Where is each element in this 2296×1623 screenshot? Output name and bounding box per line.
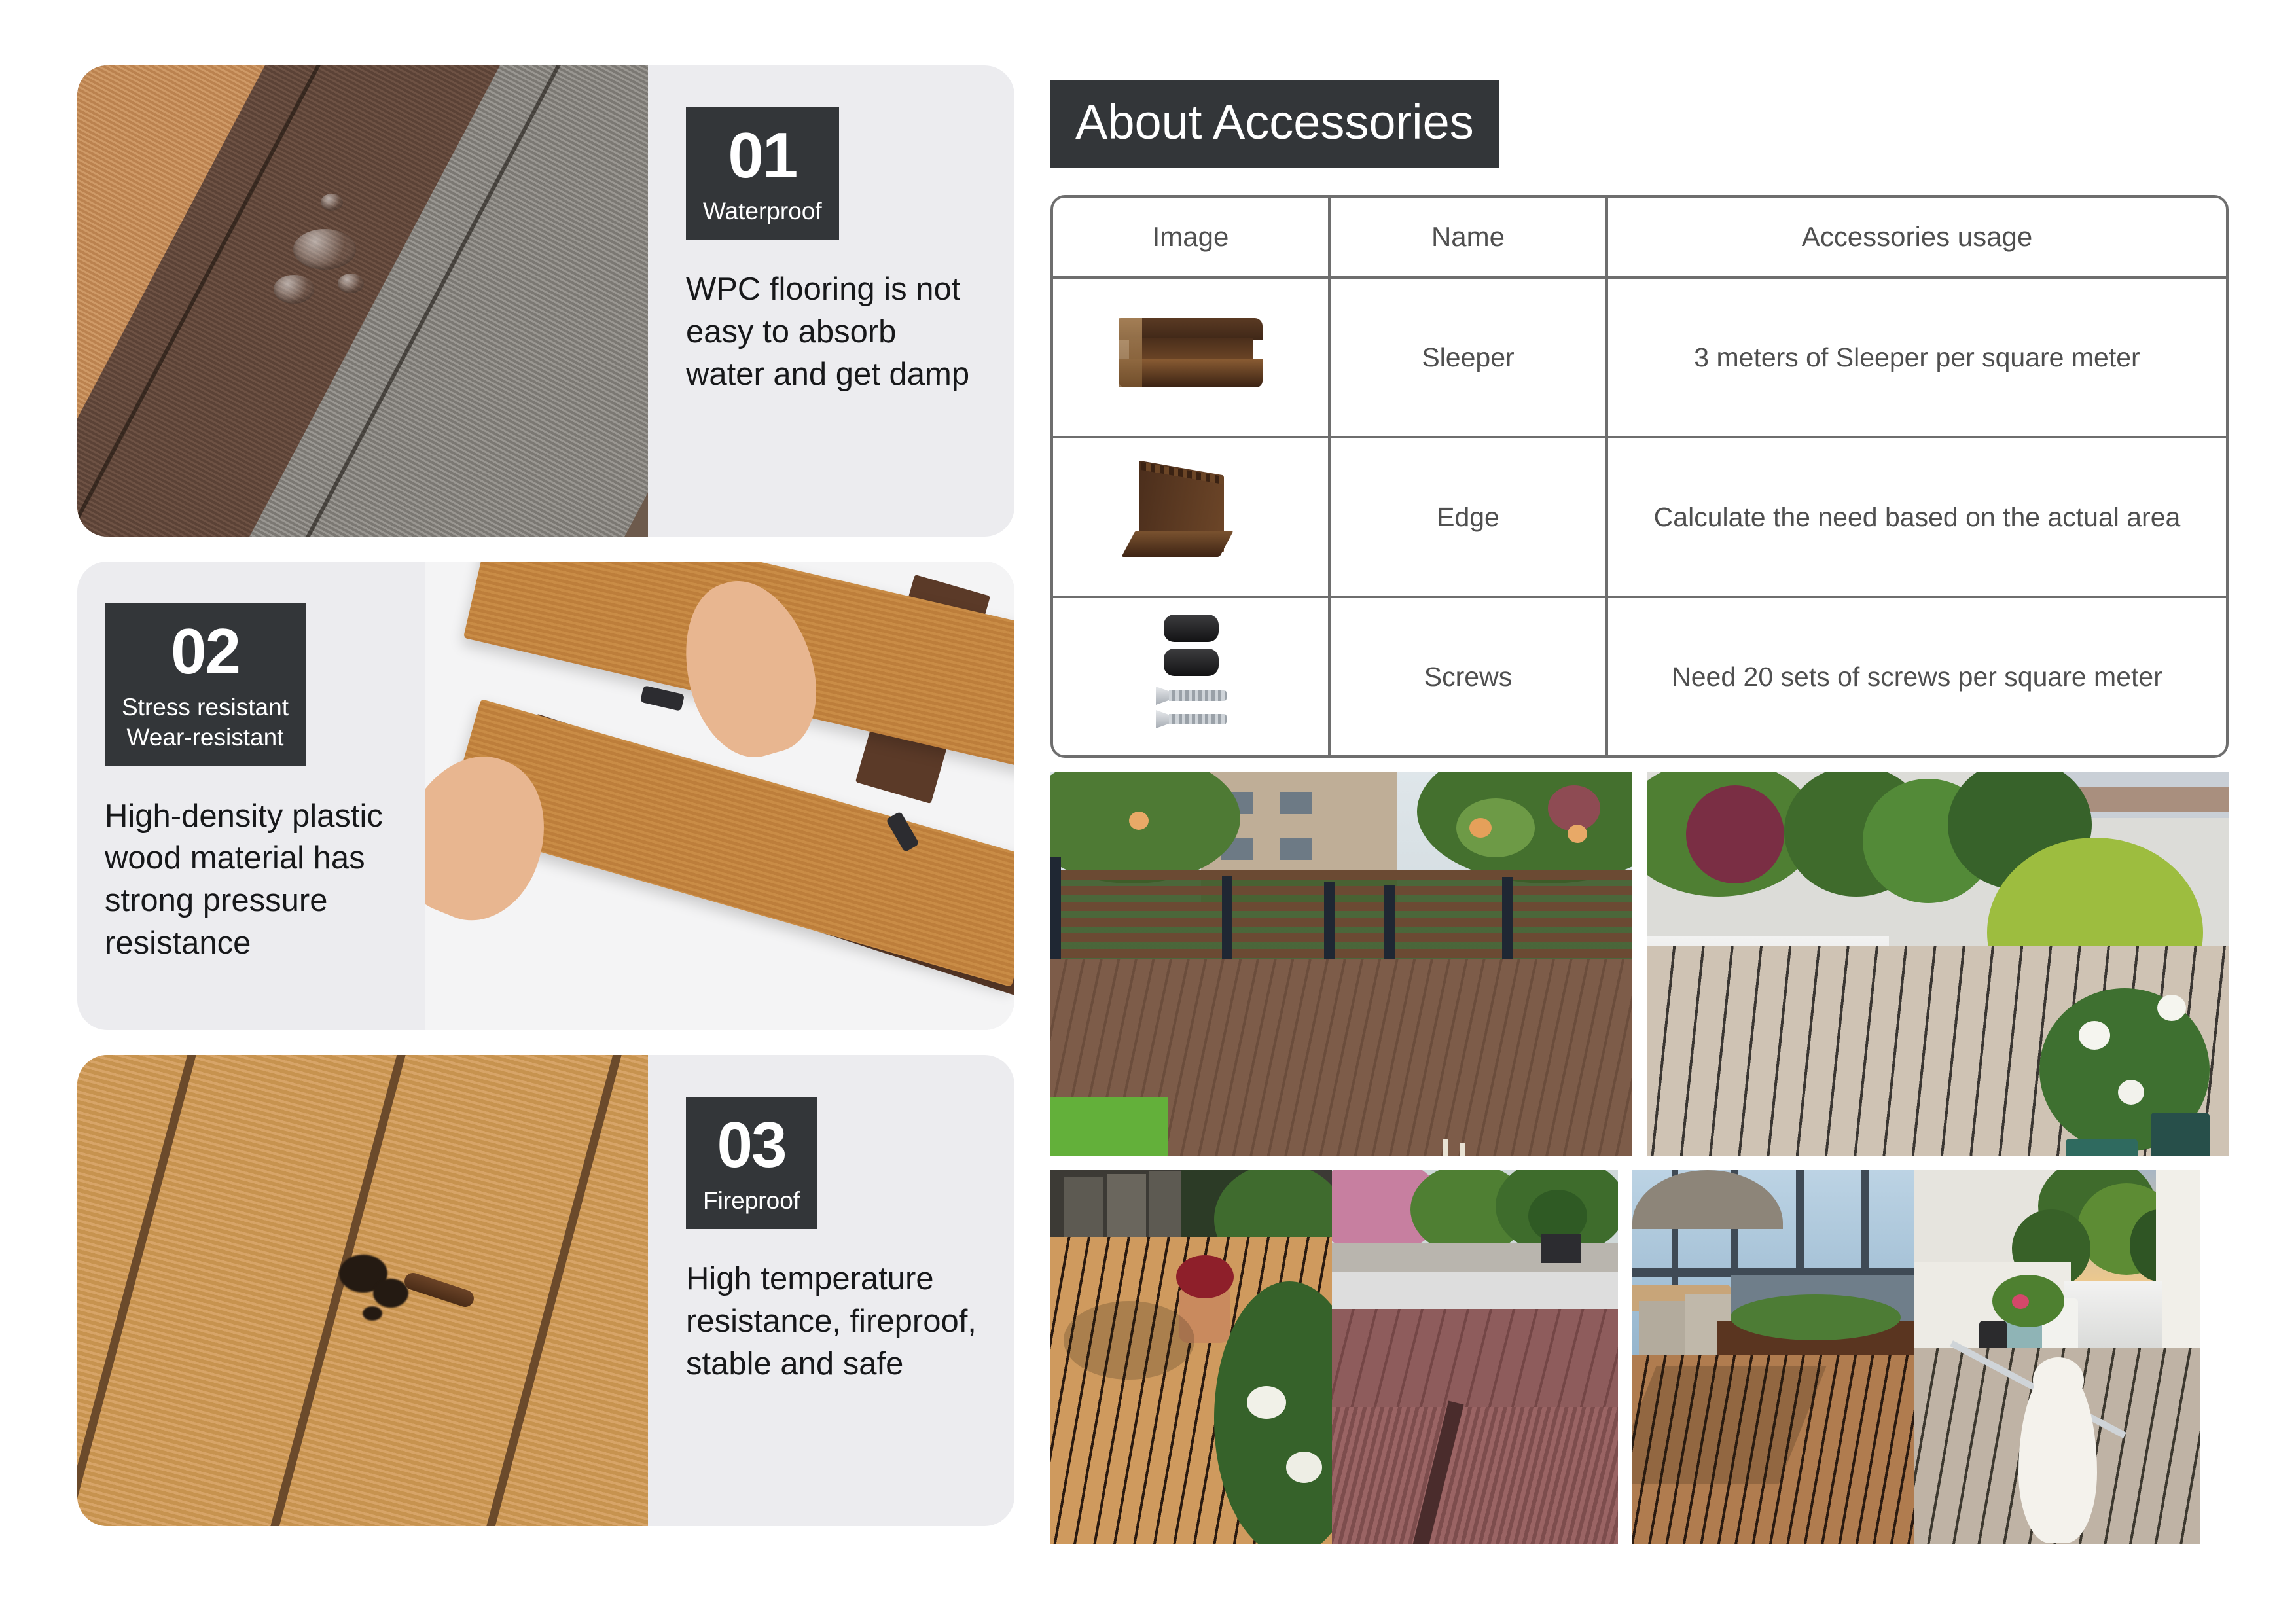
cell-usage: Need 20 sets of screws per square meter [1608,598,2226,755]
feature-card-03: 03 Fireproof High temperature resistance… [77,1055,1014,1526]
gallery-pair-left [1050,1170,1618,1544]
feature-label: Fireproof [703,1186,800,1216]
cell-usage: Calculate the need based on the actual a… [1608,438,2226,598]
feature-label: Waterproof [703,196,822,226]
infographic-page: 01 Waterproof WPC flooring is not easy t… [0,0,2296,1623]
cell-image-sleeper [1053,279,1331,438]
cell-usage: 3 meters of Sleeper per square meter [1608,279,2226,438]
accessories-column: About Accessories Image Name Accessories… [1050,80,2229,758]
table-row: Sleeper 3 meters of Sleeper per square m… [1053,279,2226,438]
header-image: Image [1053,198,1331,279]
feature-card-02: 02 Stress resistant Wear-resistant High-… [77,562,1014,1030]
gallery-photo-4 [1332,1170,1618,1544]
gallery-photo-2 [1647,772,2229,1156]
screws-icon [1053,611,1328,742]
gallery-photo-3 [1050,1170,1332,1544]
feature-badge-01: 01 Waterproof [686,107,839,240]
gallery-row-bottom [1050,1170,2229,1544]
feature-description: WPC flooring is not easy to absorb water… [686,268,977,395]
gallery-row-top [1050,772,2229,1156]
table-header-row: Image Name Accessories usage [1053,198,2226,279]
sleeper-joist-icon [1053,292,1328,423]
feature-number: 01 [703,124,822,186]
cell-name: Edge [1331,438,1608,598]
feature-badge-03: 03 Fireproof [686,1097,817,1229]
gallery-photo-6 [1914,1170,2200,1544]
section-title-accessories: About Accessories [1050,80,1499,168]
cell-image-screws [1053,598,1331,755]
header-usage: Accessories usage [1608,198,2226,279]
feature-photo-waterproof [77,65,648,537]
project-gallery [1050,772,2229,1544]
feature-photo-installation [425,562,1014,1030]
table-row: Edge Calculate the need based on the act… [1053,438,2226,598]
gallery-photo-5 [1632,1170,1914,1544]
features-column: 01 Waterproof WPC flooring is not easy t… [77,65,1014,1526]
feature-body-01: 01 Waterproof WPC flooring is not easy t… [648,65,1014,537]
header-name: Name [1331,198,1608,279]
cell-name: Screws [1331,598,1608,755]
feature-label: Stress resistant [122,692,289,722]
feature-label-secondary: Wear-resistant [122,722,289,753]
feature-badge-02: 02 Stress resistant Wear-resistant [105,603,306,766]
feature-description: High-density plastic wood material has s… [105,795,387,965]
feature-body-02: 02 Stress resistant Wear-resistant High-… [77,562,425,1030]
gallery-photo-1 [1050,772,1632,1156]
cell-name: Sleeper [1331,279,1608,438]
gallery-pair-right [1632,1170,2200,1544]
feature-photo-fireproof [77,1055,648,1526]
feature-number: 03 [703,1114,800,1175]
feature-number: 02 [122,620,289,682]
accessories-table: Image Name Accessories usage Sleeper 3 m… [1050,195,2229,758]
cell-image-edge [1053,438,1331,598]
edge-trim-icon [1053,452,1328,582]
table-row: Screws Need 20 sets of screws per square… [1053,598,2226,755]
feature-description: High temperature resistance, fireproof, … [686,1258,977,1385]
feature-card-01: 01 Waterproof WPC flooring is not easy t… [77,65,1014,537]
feature-body-03: 03 Fireproof High temperature resistance… [648,1055,1014,1526]
